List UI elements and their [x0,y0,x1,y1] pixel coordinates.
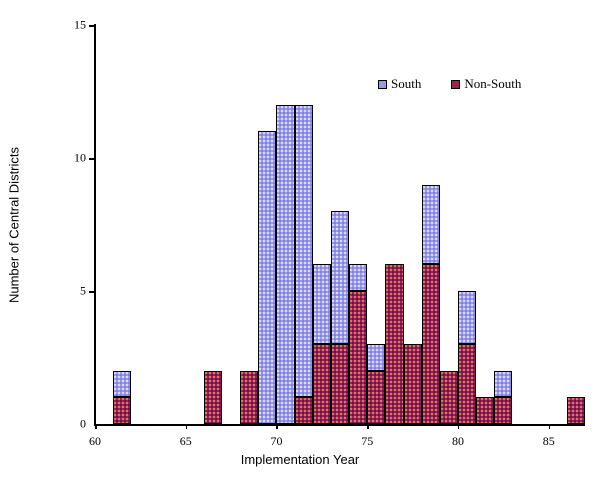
y-axis-title: Number of Central Districts [7,147,22,303]
bar-segment-south-69 [258,131,276,424]
bar-segment-south-72 [313,264,331,344]
bar-70 [276,105,294,424]
legend-item-non-south: Non-South [451,76,521,92]
bar-81 [476,397,494,424]
bar-74 [349,264,367,424]
y-tick-label-5: 5 [0,284,86,299]
bar-segment-non-south-68 [240,371,258,424]
y-tick-label-10: 10 [0,151,86,166]
bar-segment-non-south-74 [349,291,367,424]
bar-79 [440,371,458,424]
x-tick-label-75: 75 [361,434,373,449]
bar-segment-non-south-81 [476,397,494,424]
bar-segment-south-70 [276,105,294,424]
x-axis-tick-65 [186,424,188,429]
y-tick-label-0: 0 [0,417,86,432]
bar-segment-non-south-66 [204,371,222,424]
legend-label-south: South [391,76,421,92]
bar-75 [367,344,385,424]
bar-segment-non-south-82 [494,397,512,424]
bar-segment-non-south-79 [440,371,458,424]
bar-segment-non-south-61 [113,397,131,424]
bar-69 [258,131,276,424]
x-axis-tick-60 [95,424,97,429]
x-axis-tick-75 [367,424,369,429]
bar-segment-south-82 [494,371,512,398]
bar-73 [331,211,349,424]
bar-segment-non-south-80 [458,344,476,424]
legend-swatch-non-south [451,80,460,89]
bar-80 [458,291,476,424]
bar-segment-south-61 [113,371,131,398]
x-tick-label-70: 70 [270,434,282,449]
x-tick-label-85: 85 [543,434,555,449]
bar-82 [494,371,512,424]
bar-77 [404,344,422,424]
x-axis-tick-85 [549,424,551,429]
bar-71 [295,105,313,424]
bar-segment-non-south-78 [422,264,440,424]
y-tick-label-15: 15 [0,18,86,33]
legend-item-south: South [378,76,421,92]
bar-72 [313,264,331,424]
x-axis-title: Implementation Year [0,452,600,467]
bar-segment-non-south-75 [367,371,385,424]
x-tick-label-60: 60 [89,434,101,449]
bar-segment-non-south-73 [331,344,349,424]
legend-swatch-south [378,80,387,89]
bar-segment-south-71 [295,105,313,398]
bar-segment-non-south-76 [385,264,403,424]
bar-segment-south-75 [367,344,385,371]
chart-legend: South Non-South [378,76,521,92]
bar-68 [240,371,258,424]
x-axis-line [94,424,585,426]
bar-segment-south-73 [331,211,349,344]
bar-segment-south-74 [349,264,367,291]
x-tick-label-65: 65 [180,434,192,449]
bar-61 [113,371,131,424]
bar-segment-non-south-72 [313,344,331,424]
x-axis-tick-80 [458,424,460,429]
x-axis-tick-70 [276,424,278,429]
bar-segment-non-south-71 [295,397,313,424]
x-tick-label-80: 80 [452,434,464,449]
bar-segment-south-80 [458,291,476,344]
bar-segment-non-south-77 [404,344,422,424]
bar-78 [422,185,440,424]
bar-76 [385,264,403,424]
bar-segment-south-78 [422,185,440,265]
bar-86 [567,397,585,424]
bar-66 [204,371,222,424]
legend-label-non-south: Non-South [464,76,521,92]
bar-segment-non-south-86 [567,397,585,424]
chart-figure: Number of Central Districts 15 10 5 0 60… [0,0,600,488]
